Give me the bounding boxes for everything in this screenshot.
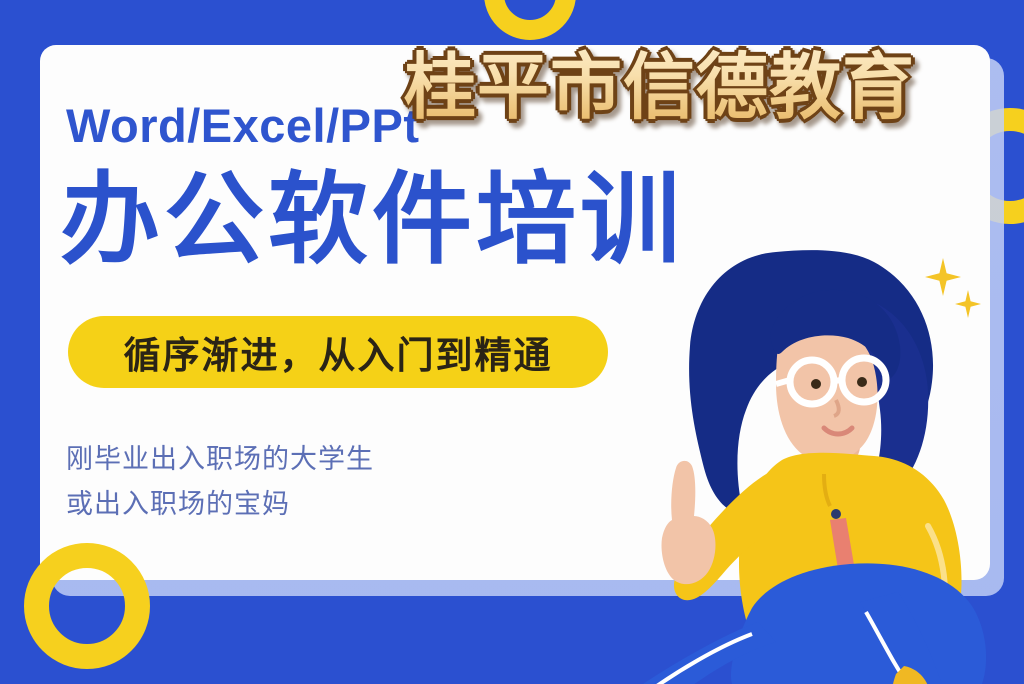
tagline-badge: 循序渐进，从入门到精通 — [68, 316, 608, 388]
woman-pointing-up-illustration — [530, 230, 1024, 684]
subtitle-english: Word/Excel/PPt — [66, 98, 420, 153]
pen-cap — [831, 509, 841, 519]
yellow-ring-bottom-left-icon — [24, 543, 150, 669]
pointing-hand — [662, 461, 716, 584]
tagline-badge-label: 循序渐进，从入门到精通 — [124, 325, 553, 379]
audience-block: 刚毕业出入职场的大学生 或出入职场的宝妈 — [66, 437, 374, 526]
brand-watermark: 桂平市信德教育 — [404, 28, 915, 133]
audience-line-1: 刚毕业出入职场的大学生 — [66, 437, 374, 482]
poster-canvas: Word/Excel/PPt 办公软件培训 循序渐进，从入门到精通 刚毕业出入职… — [0, 0, 1024, 684]
audience-line-2: 或出入职场的宝妈 — [66, 482, 374, 527]
